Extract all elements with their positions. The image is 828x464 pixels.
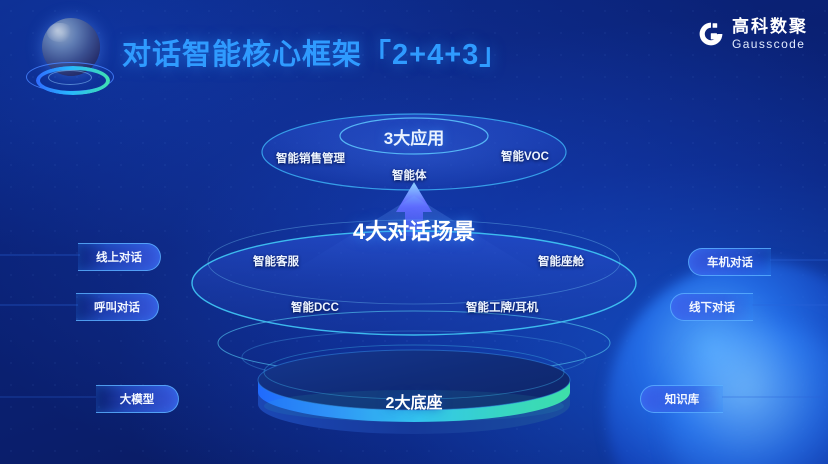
node-smart-voc[interactable]: 智能VOC: [501, 148, 549, 164]
chip-offline-dialogue[interactable]: 线下对话: [670, 293, 753, 321]
node-smart-customer-service[interactable]: 智能客服: [253, 253, 299, 269]
node-smart-dcc[interactable]: 智能DCC: [291, 299, 339, 315]
chip-call-dialogue[interactable]: 呼叫对话: [76, 293, 159, 321]
chip-large-model[interactable]: 大模型: [96, 385, 179, 413]
tier-title-applications: 3大应用: [0, 124, 828, 149]
slide-canvas: 对话智能核心框架「2+4+3」 高科数聚 Gausscode: [0, 0, 828, 464]
chip-in-car-dialogue[interactable]: 车机对话: [688, 248, 771, 276]
node-smart-cockpit[interactable]: 智能座舱: [538, 253, 584, 269]
tier-title-scenarios: 4大对话场景: [0, 214, 828, 246]
chip-online-dialogue[interactable]: 线上对话: [78, 243, 161, 271]
chip-knowledge-base[interactable]: 知识库: [640, 385, 723, 413]
node-agent[interactable]: 智能体: [392, 167, 427, 183]
node-smart-sales-management[interactable]: 智能销售管理: [276, 150, 345, 166]
node-smart-badge-headset[interactable]: 智能工牌/耳机: [466, 299, 538, 315]
